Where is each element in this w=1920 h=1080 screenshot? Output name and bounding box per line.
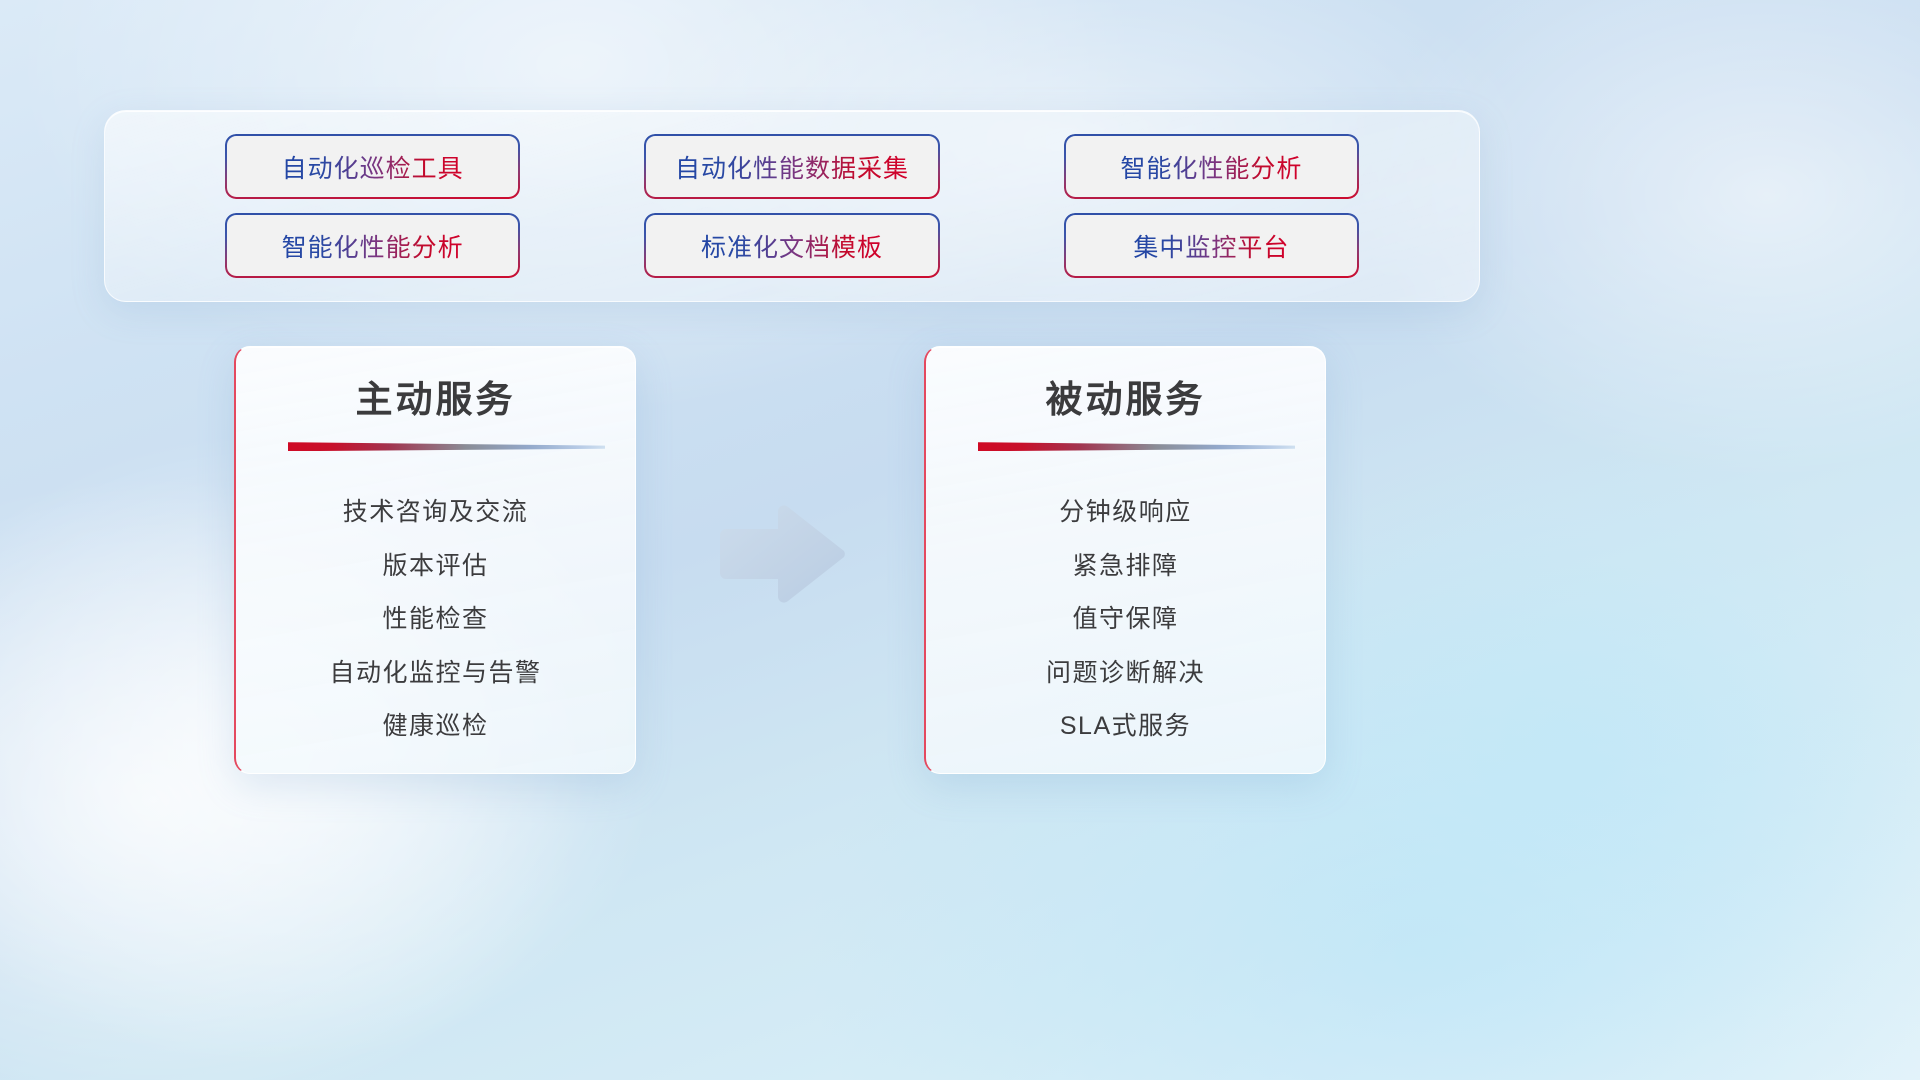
capability-pill-2[interactable]: 自动化性能数据采集 bbox=[646, 136, 938, 198]
service-card-proactive: 主动服务 技术咨询及交流 版本评估 性能检查 自动化监控与告警 健康巡检 bbox=[234, 346, 636, 774]
capability-pill-6[interactable]: 集中监控平台 bbox=[1065, 215, 1357, 277]
list-item: 技术咨询及交流 bbox=[262, 483, 609, 537]
slide-canvas: 自动化巡检工具 自动化性能数据采集 智能化性能分析 智能化性能分析 标准化文档模… bbox=[0, 0, 1920, 1080]
card-title-divider bbox=[956, 439, 1295, 453]
card-title: 主动服务 bbox=[262, 377, 609, 423]
list-item: 分钟级响应 bbox=[952, 483, 1299, 537]
service-item-list: 分钟级响应 紧急排障 值守保障 问题诊断解决 SLA式服务 bbox=[952, 483, 1299, 751]
arrow-right-icon bbox=[716, 505, 850, 603]
capability-pill-label: 自动化性能数据采集 bbox=[675, 149, 909, 185]
capability-pill-3[interactable]: 智能化性能分析 bbox=[1065, 136, 1357, 198]
list-item: 值守保障 bbox=[952, 590, 1299, 644]
list-item: 健康巡检 bbox=[262, 697, 609, 751]
capability-pill-label: 智能化性能分析 bbox=[282, 228, 464, 264]
list-item: SLA式服务 bbox=[952, 697, 1299, 751]
list-item: 性能检查 bbox=[262, 590, 609, 644]
list-item: 自动化监控与告警 bbox=[262, 644, 609, 698]
capability-panel: 自动化巡检工具 自动化性能数据采集 智能化性能分析 智能化性能分析 标准化文档模… bbox=[104, 110, 1480, 302]
card-title-divider bbox=[266, 439, 605, 453]
gradient-rule bbox=[288, 442, 605, 451]
card-title: 被动服务 bbox=[952, 377, 1299, 423]
capability-pill-label: 集中监控平台 bbox=[1133, 228, 1289, 264]
capability-pill-label: 自动化巡检工具 bbox=[282, 149, 464, 185]
gradient-rule bbox=[978, 442, 1295, 451]
capability-pill-4[interactable]: 智能化性能分析 bbox=[227, 215, 519, 277]
list-item: 紧急排障 bbox=[952, 537, 1299, 591]
capability-pill-5[interactable]: 标准化文档模板 bbox=[646, 215, 938, 277]
list-item: 问题诊断解决 bbox=[952, 644, 1299, 698]
service-item-list: 技术咨询及交流 版本评估 性能检查 自动化监控与告警 健康巡检 bbox=[262, 483, 609, 751]
capability-pill-label: 智能化性能分析 bbox=[1120, 149, 1302, 185]
list-item: 版本评估 bbox=[262, 537, 609, 591]
capability-pill-label: 标准化文档模板 bbox=[701, 228, 883, 264]
capability-pill-1[interactable]: 自动化巡检工具 bbox=[227, 136, 519, 198]
service-card-reactive: 被动服务 分钟级响应 紧急排障 值守保障 问题诊断解决 SLA式服务 bbox=[924, 346, 1326, 774]
